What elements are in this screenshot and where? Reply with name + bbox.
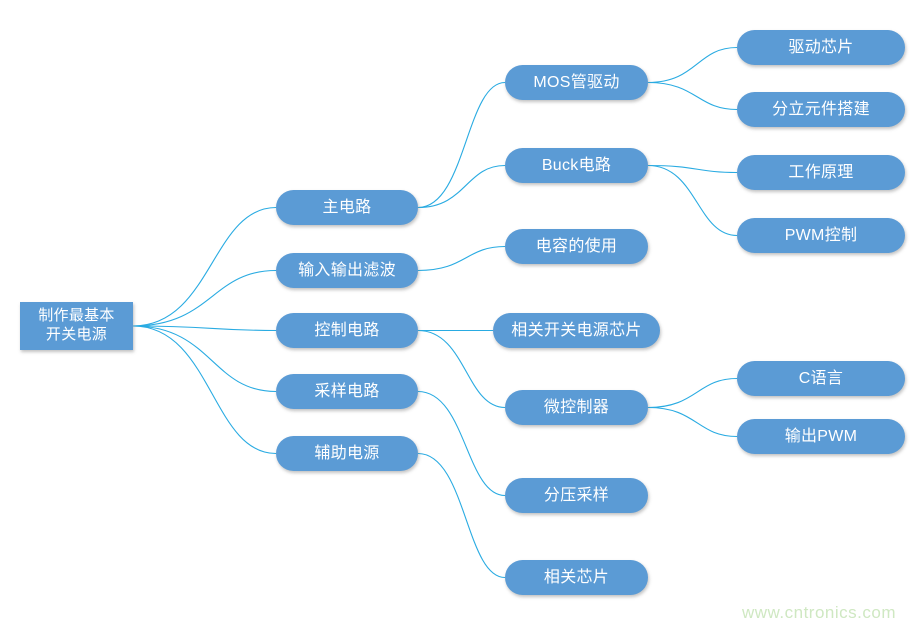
node-pwm-control[interactable]: PWM控制 — [737, 218, 905, 253]
node-c-language[interactable]: C语言 — [737, 361, 905, 396]
node-control-circuit[interactable]: 控制电路 — [276, 313, 418, 348]
root-node[interactable]: 制作最基本开关电源 — [20, 302, 133, 350]
node-buck[interactable]: Buck电路 — [505, 148, 648, 183]
root-label-line-1: 制作最基本 — [38, 307, 115, 326]
mindmap-canvas: 制作最基本开关电源 主电路输入输出滤波控制电路采样电路辅助电源 MOS管驱动Bu… — [0, 0, 923, 629]
node-pwm-output[interactable]: 输出PWM — [737, 419, 905, 454]
node-aux-power[interactable]: 辅助电源 — [276, 436, 418, 471]
connector-main-circuit-to-buck — [418, 166, 505, 208]
node-smps-chips[interactable]: 相关开关电源芯片 — [493, 313, 660, 348]
connector-mos-drive-to-discrete — [648, 83, 737, 110]
node-io-filter[interactable]: 输入输出滤波 — [276, 253, 418, 288]
connector-root-to-aux-power — [133, 326, 276, 454]
node-rel-chips[interactable]: 相关芯片 — [505, 560, 648, 595]
connector-root-to-io-filter — [133, 271, 276, 327]
node-driver-ic[interactable]: 驱动芯片 — [737, 30, 905, 65]
connector-control-circuit-to-mcu — [418, 331, 505, 408]
watermark: www.cntronics.com — [742, 603, 896, 623]
node-main-circuit[interactable]: 主电路 — [276, 190, 418, 225]
connector-main-circuit-to-mos-drive — [418, 83, 505, 208]
connector-mcu-to-c-language — [648, 379, 737, 408]
connector-mcu-to-pwm-output — [648, 408, 737, 437]
connector-aux-power-to-rel-chips — [418, 454, 505, 578]
connector-sampling-to-div-sample — [418, 392, 505, 496]
root-label-line-2: 开关电源 — [38, 326, 115, 345]
node-sampling[interactable]: 采样电路 — [276, 374, 418, 409]
node-discrete[interactable]: 分立元件搭建 — [737, 92, 905, 127]
node-cap-use[interactable]: 电容的使用 — [505, 229, 648, 264]
connector-buck-to-pwm-control — [648, 166, 737, 236]
connector-buck-to-principle — [648, 166, 737, 173]
connector-io-filter-to-cap-use — [418, 247, 505, 271]
node-mcu[interactable]: 微控制器 — [505, 390, 648, 425]
connector-root-to-sampling — [133, 326, 276, 392]
node-div-sample[interactable]: 分压采样 — [505, 478, 648, 513]
node-mos-drive[interactable]: MOS管驱动 — [505, 65, 648, 100]
connector-root-to-main-circuit — [133, 208, 276, 327]
node-principle[interactable]: 工作原理 — [737, 155, 905, 190]
connector-mos-drive-to-driver-ic — [648, 48, 737, 83]
